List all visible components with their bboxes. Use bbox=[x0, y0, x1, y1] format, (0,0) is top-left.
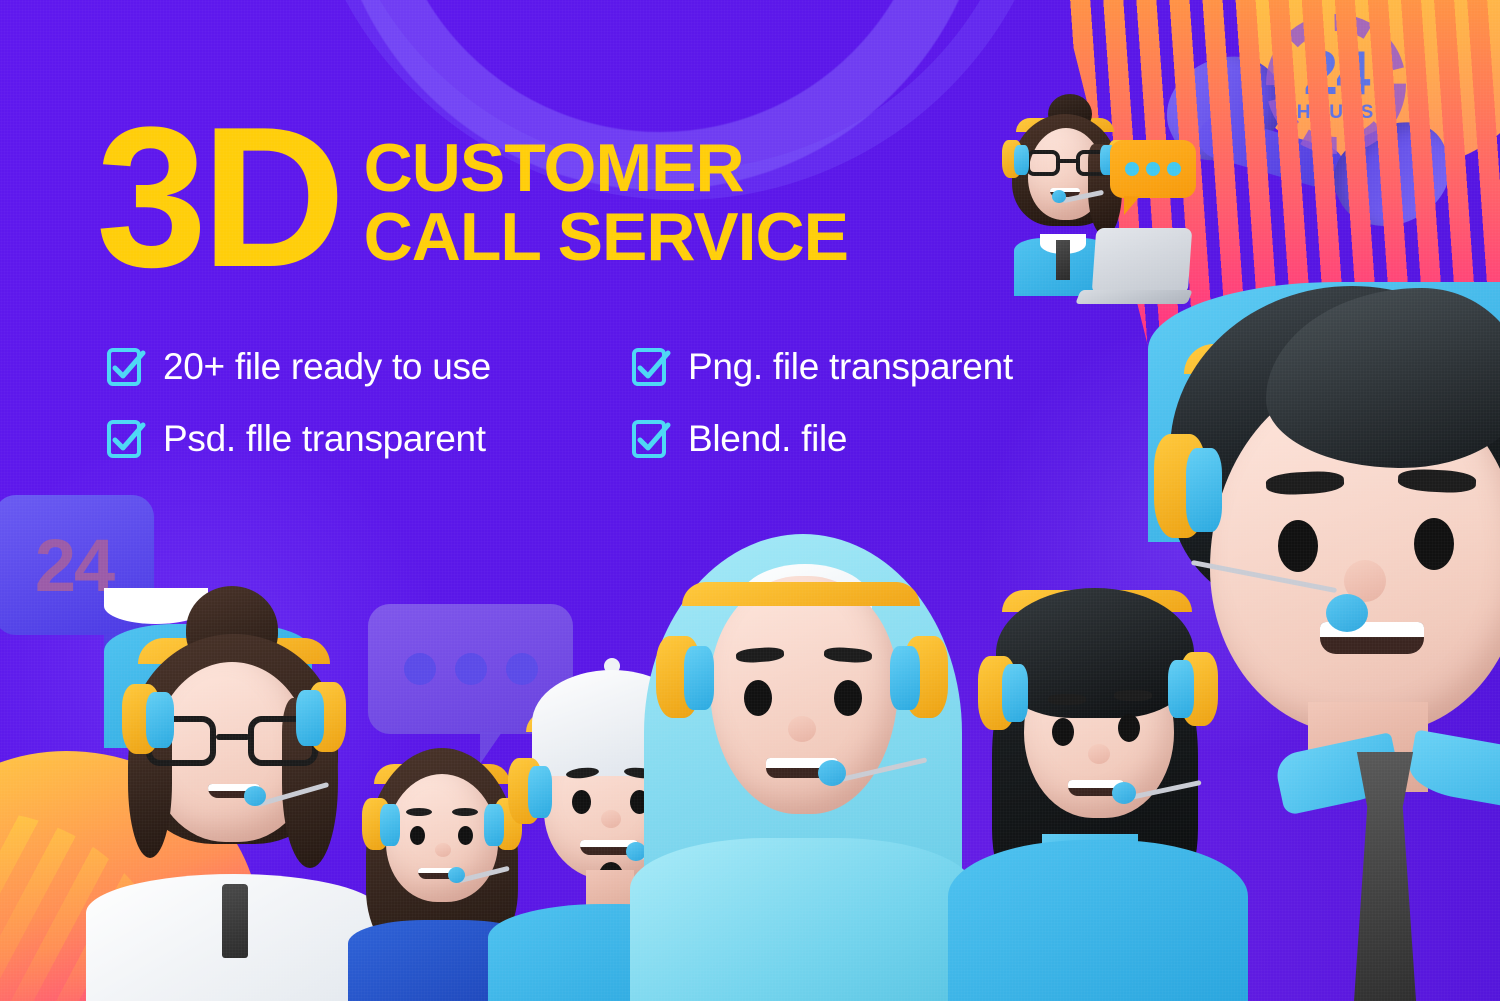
glasses-icon bbox=[1026, 150, 1110, 178]
char-main-man bbox=[1148, 282, 1500, 1001]
list-item: Blend. file bbox=[631, 418, 1013, 460]
feature-label: Png. file transparent bbox=[688, 346, 1013, 388]
page-title-3d: 3D bbox=[96, 112, 340, 284]
checkbox-checked-icon bbox=[631, 347, 671, 387]
headline-block: 3D CUSTOMER CALL SERVICE bbox=[96, 112, 848, 284]
subtitle-line-2: CALL SERVICE bbox=[364, 203, 848, 272]
checkbox-checked-icon bbox=[631, 419, 671, 459]
feature-label: Psd. flle transparent bbox=[163, 418, 486, 460]
page-subtitle: CUSTOMER CALL SERVICE bbox=[364, 134, 848, 273]
list-item: 20+ file ready to use bbox=[106, 346, 631, 388]
poster-canvas: 24 HOURS 24 3D CUSTOMER CALL SERVICE bbox=[0, 0, 1500, 1001]
list-item: Png. file transparent bbox=[631, 346, 1013, 388]
speech-bubble-orange bbox=[1110, 140, 1196, 198]
char-hijab-woman bbox=[636, 528, 968, 1001]
feature-label: Blend. file bbox=[688, 418, 847, 460]
feature-list: 20+ file ready to use Png. file transpar… bbox=[106, 346, 1013, 460]
feature-label: 20+ file ready to use bbox=[163, 346, 491, 388]
subtitle-line-1: CUSTOMER bbox=[364, 134, 848, 203]
checkbox-checked-icon bbox=[106, 419, 146, 459]
char-glasses-woman bbox=[104, 588, 364, 1001]
list-item: Psd. flle transparent bbox=[106, 418, 631, 460]
checkbox-checked-icon bbox=[106, 347, 146, 387]
typing-dots-icon bbox=[1110, 140, 1196, 198]
